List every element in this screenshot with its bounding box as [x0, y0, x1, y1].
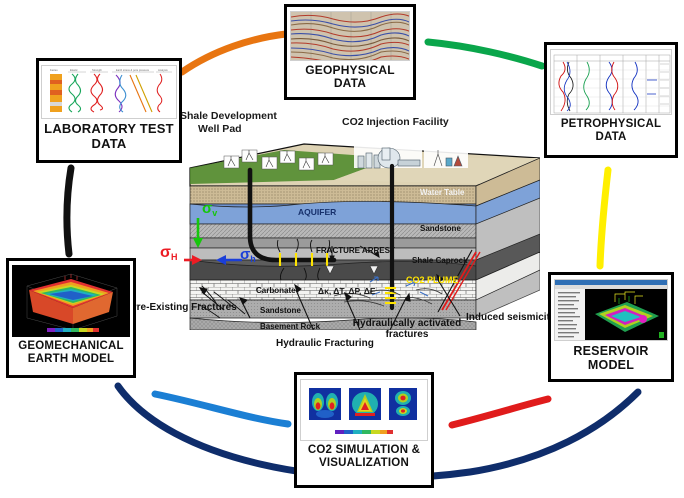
central-block-diagram: Shale Development Well Pad CO2 Injection… — [184, 140, 540, 330]
annotation-pre-existing-fractures: Pre-Existing Fractures — [130, 302, 237, 313]
label-min-horizontal-stress: σh — [240, 246, 256, 264]
panel-geomechanical-earth-model[interactable]: GEOMECHANICAL EARTH MODEL — [6, 258, 136, 378]
laboratory-test-thumbnail: FaciesElasticStrength Earth stress & por… — [41, 65, 177, 119]
panel-geophysical-data[interactable]: GEOPHYSICAL DATA — [284, 4, 416, 100]
label-co2-injection-facility: CO2 Injection Facility — [342, 116, 449, 128]
label-co2-plume: CO2 PLUME — [406, 275, 459, 285]
arc-laboratory-to-geophysical — [182, 34, 286, 72]
panel-co2-simulation-visualization-caption: CO2 SIMULATION & VISUALIZATION — [306, 443, 422, 473]
panel-laboratory-test-data[interactable]: FaciesElasticStrength Earth stress & por… — [36, 58, 182, 163]
panel-reservoir-model[interactable]: RESERVOIR MODEL — [548, 272, 674, 382]
block-diagram-graphic — [184, 140, 540, 330]
label-water-table: Water Table — [420, 188, 464, 197]
panel-laboratory-test-data-caption: LABORATORY TEST DATA — [42, 121, 176, 154]
label-basement-rock: Basement Rock — [260, 322, 320, 331]
annotation-hydraulically-activated-fractures: Hydraulically activated fractures — [352, 318, 462, 340]
arc-petrophysical-to-reservoir — [600, 170, 608, 266]
co2-simulation-thumbnail — [300, 379, 428, 441]
svg-text:Elastic: Elastic — [70, 68, 78, 72]
label-aquifer: AQUIFER — [298, 207, 336, 217]
annotation-induced-seismicity: Induced seismicity — [466, 312, 555, 323]
arc-geomechanical-to-laboratory — [67, 168, 71, 254]
panel-petrophysical-data[interactable]: PETROPHYSICAL DATA — [544, 42, 678, 158]
geomechanical-model-thumbnail — [12, 265, 130, 337]
panel-petrophysical-data-caption: PETROPHYSICAL DATA — [559, 117, 663, 147]
label-max-horizontal-stress: σH — [160, 244, 177, 262]
label-vertical-stress: σv — [202, 200, 217, 218]
panel-geomechanical-earth-model-caption: GEOMECHANICAL EARTH MODEL — [16, 339, 125, 369]
svg-text:Analysis: Analysis — [158, 68, 168, 72]
arc-simulation-to-geomechanical — [155, 394, 288, 424]
label-carbonate: Carbonate — [256, 286, 296, 295]
reservoir-model-thumbnail — [554, 279, 668, 341]
geophysical-seismic-thumbnail — [290, 11, 410, 61]
workflow-diagram: Shale Development Well Pad CO2 Injection… — [0, 0, 684, 498]
panel-geophysical-data-caption: GEOPHYSICAL DATA — [303, 63, 397, 94]
svg-text:Facies: Facies — [50, 68, 58, 72]
svg-text:Earth stress & pore pressure: Earth stress & pore pressure — [116, 68, 150, 72]
petrophysical-log-thumbnail — [550, 49, 672, 115]
label-sandstone-upper: Sandstone — [420, 224, 461, 233]
label-property-changes: Δκ, ΔT, ΔP, ΔE — [318, 286, 376, 296]
panel-reservoir-model-caption: RESERVOIR MODEL — [571, 343, 650, 375]
label-fracture-arrest: FRACTURE ARREST — [316, 246, 395, 255]
label-shale-development-well-pad: Shale Development — [180, 110, 277, 122]
svg-text:Strength: Strength — [92, 68, 102, 72]
arc-reservoir-to-simulation — [452, 399, 548, 425]
label-sandstone-lower: Sandstone — [260, 306, 301, 315]
label-shale-caprock: Shale Caprock — [412, 256, 468, 265]
label-shale-development-well-pad-line2: Well Pad — [198, 123, 242, 135]
arc-geophysical-to-petrophysical — [428, 42, 542, 66]
panel-co2-simulation-visualization[interactable]: CO2 SIMULATION & VISUALIZATION — [294, 372, 434, 488]
